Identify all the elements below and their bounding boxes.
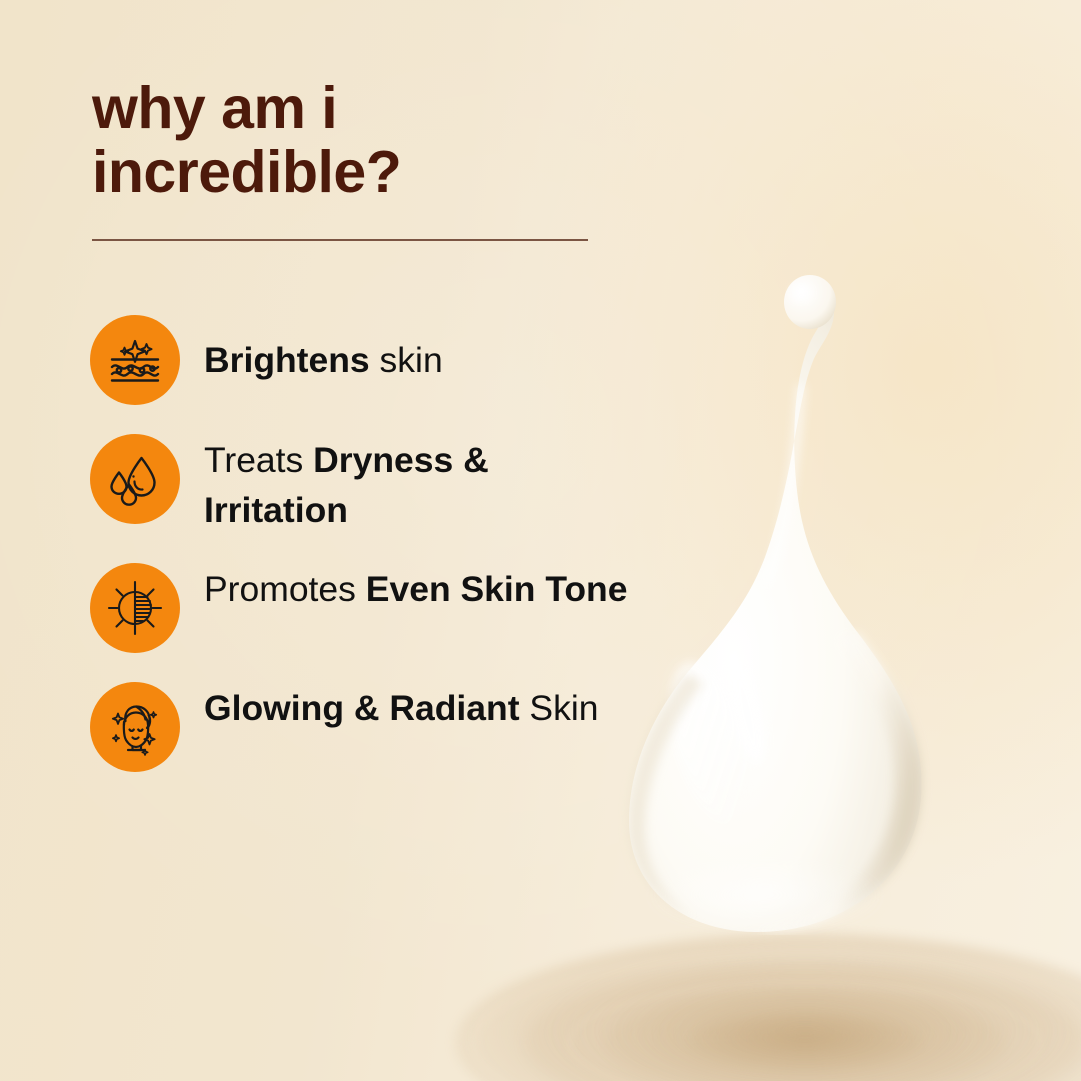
benefit-label-lead: Promotes xyxy=(204,569,366,609)
benefit-label: Brightens skin xyxy=(204,336,443,386)
benefits-poster: why am i incredible? xyxy=(0,0,1081,1081)
benefit-label: Promotes Even Skin Tone xyxy=(204,565,628,615)
brightening-skin-layers-icon xyxy=(105,330,165,390)
benefit-icon-badge xyxy=(90,434,180,524)
list-item: Promotes Even Skin Tone xyxy=(90,563,650,655)
benefit-label-tail: Even Skin Tone xyxy=(366,569,628,609)
droplet-tip-bead xyxy=(784,275,836,329)
page-title: why am i incredible? xyxy=(92,76,652,205)
benefit-label-tail: Skin xyxy=(520,688,599,728)
half-shaded-sun-icon xyxy=(105,578,165,638)
benefit-label-lead: Treats xyxy=(204,440,313,480)
glowing-face-towel-icon xyxy=(105,697,165,757)
water-droplets-icon xyxy=(105,449,165,509)
benefit-label: Treats Dryness & Irritation xyxy=(204,436,634,535)
benefit-label: Glowing & Radiant Skin xyxy=(204,684,598,734)
benefit-icon-badge xyxy=(90,682,180,772)
benefit-label-lead: Glowing & Radiant xyxy=(204,688,520,728)
benefit-icon-badge xyxy=(90,315,180,405)
benefit-label-tail: skin xyxy=(370,340,443,380)
benefit-icon-badge xyxy=(90,563,180,653)
pool-ring-core xyxy=(689,1014,921,1072)
list-item: Treats Dryness & Irritation xyxy=(90,434,650,535)
cream-droplet xyxy=(615,275,945,935)
headline-divider xyxy=(92,239,588,241)
cream-ripple-pool xyxy=(455,918,1081,1081)
list-item: Glowing & Radiant Skin xyxy=(90,682,650,774)
benefits-list: Brightens skin xyxy=(90,315,650,797)
benefit-label-lead: Brightens xyxy=(204,340,370,380)
list-item: Brightens skin xyxy=(90,315,650,407)
